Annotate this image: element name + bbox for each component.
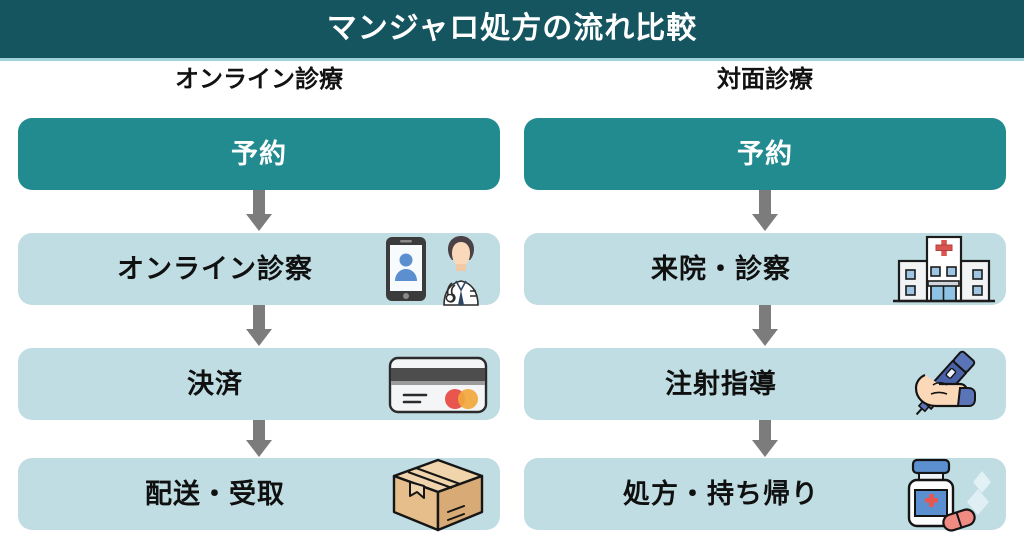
column-inperson: 対面診療 予約 来院・診察 (524, 61, 1006, 559)
pill-bottle-icon (888, 455, 1000, 533)
credit-card-icon (382, 345, 494, 423)
phone-doctor-icon (382, 230, 494, 308)
header-bar: マンジャロ処方の流れ比較 (0, 0, 1024, 58)
step-box-online-4[interactable]: 配送・受取 (18, 458, 500, 530)
step-label: 決済 (187, 371, 243, 398)
step-box-inperson-3[interactable]: 注射指導 (524, 348, 1006, 420)
step-box-online-1[interactable]: 予約 (18, 118, 500, 190)
step-box-inperson-4[interactable]: 処方・持ち帰り (524, 458, 1006, 530)
column-heading-inperson: 対面診療 (524, 68, 1006, 92)
step-label: 予約 (737, 141, 793, 168)
step-label: オンライン診察 (117, 256, 313, 283)
step-box-inperson-2[interactable]: 来院・診察 (524, 233, 1006, 305)
step-box-online-3[interactable]: 決済 (18, 348, 500, 420)
step-label: 配送・受取 (145, 481, 285, 508)
infographic-page: マンジャロ処方の流れ比較 オンライン診療 予約 オンライン診察 (0, 0, 1024, 559)
page-title: マンジャロ処方の流れ比較 (327, 14, 698, 44)
column-heading-online: オンライン診療 (18, 68, 500, 92)
hospital-icon (888, 230, 1000, 308)
parcel-box-icon (382, 455, 494, 533)
step-label: 注射指導 (665, 371, 777, 398)
step-label: 予約 (231, 141, 287, 168)
column-online: オンライン診療 予約 オンライン診察 (18, 61, 500, 559)
step-label: 来院・診察 (651, 256, 791, 283)
step-box-online-2[interactable]: オンライン診察 (18, 233, 500, 305)
injection-pen-icon (888, 345, 1000, 423)
step-label: 処方・持ち帰り (623, 481, 819, 508)
step-box-inperson-1[interactable]: 予約 (524, 118, 1006, 190)
